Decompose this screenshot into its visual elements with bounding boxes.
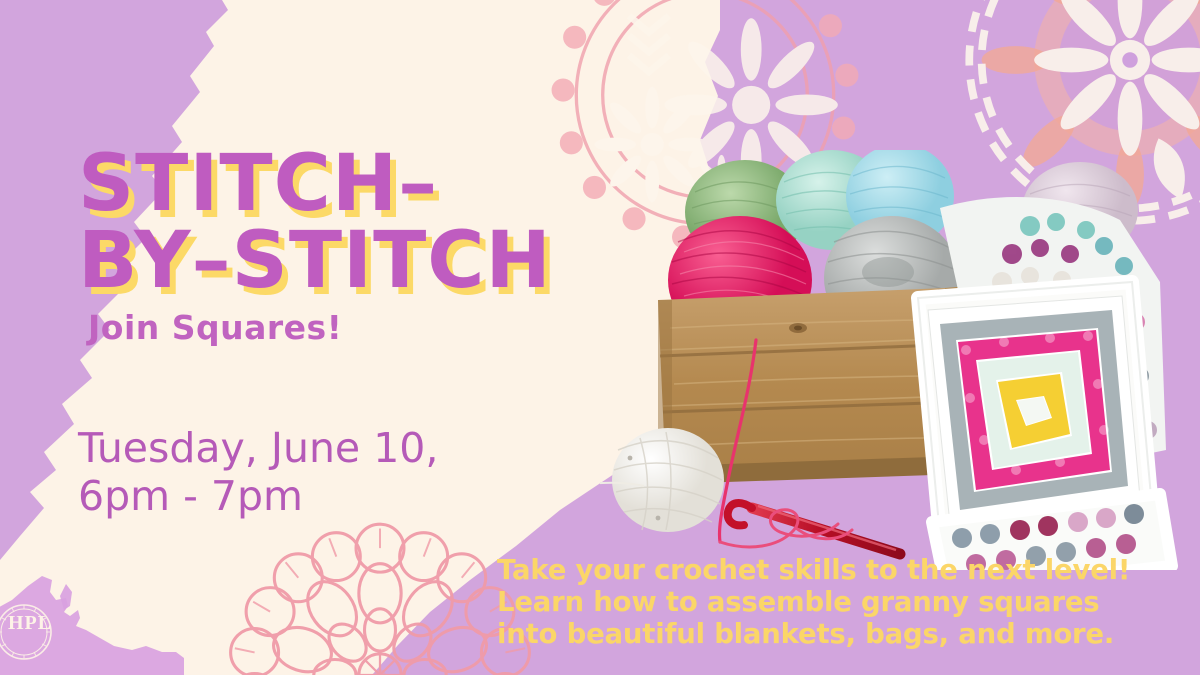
doily-bottom-left-icon — [225, 520, 535, 675]
granny-square-blanket — [918, 197, 1172, 570]
event-description: Take your crochet skills to the next lev… — [497, 554, 1197, 651]
crochet-supplies-photo — [600, 150, 1200, 570]
event-poster: STITCH– BY–STITCH Join Squares! Tuesday,… — [0, 0, 1200, 675]
event-datetime: Tuesday, June 10, 6pm - 7pm — [78, 424, 508, 521]
page-title: STITCH– BY–STITCH — [78, 146, 638, 300]
logo-initials: HPL — [8, 612, 52, 635]
yarn-ball-white — [600, 428, 724, 532]
subtitle: Join Squares! — [88, 308, 342, 347]
